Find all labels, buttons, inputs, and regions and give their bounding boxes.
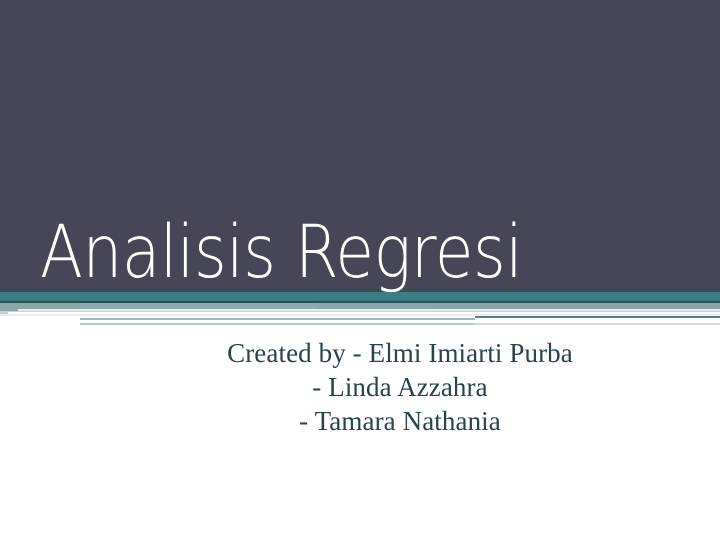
stripe-white-4 [0, 325, 500, 329]
subtitle-line-2: - Linda Azzahra [120, 370, 680, 404]
subtitle-line-1: Created by - Elmi Imiarti Purba [120, 336, 680, 370]
decorative-stripe-band [0, 292, 720, 338]
slide-title: Analisis Regresi [40, 212, 590, 302]
stripe-callout-white [475, 325, 720, 331]
subtitle-line-3: - Tamara Nathania [120, 404, 680, 438]
slide-subtitle: Created by - Elmi Imiarti Purba - Linda … [120, 336, 680, 438]
title-slide: Analisis Regresi Created by - Elmi Imiar… [0, 0, 720, 540]
